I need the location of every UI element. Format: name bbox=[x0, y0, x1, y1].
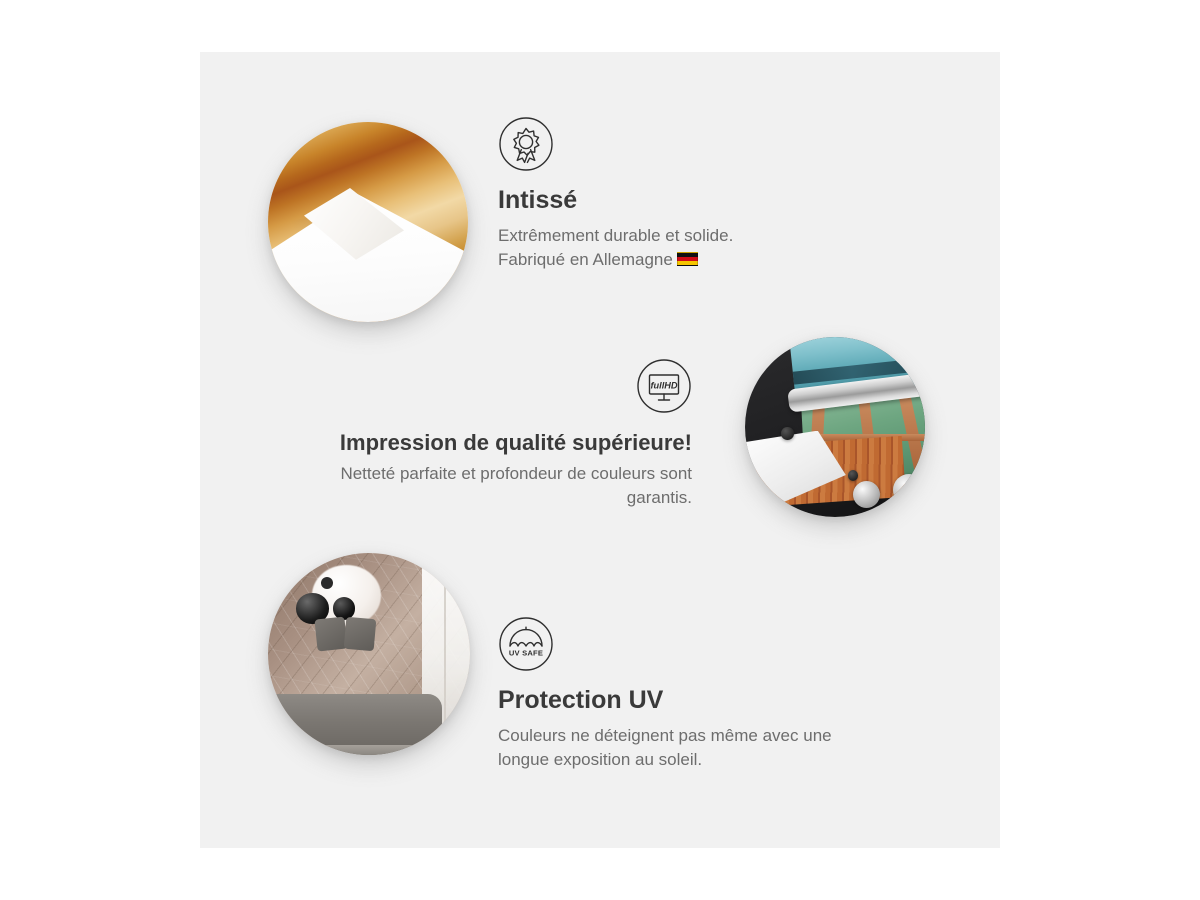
living-room-mural-photo bbox=[268, 553, 470, 755]
photo-inner bbox=[268, 553, 470, 755]
feature-title: Protection UV bbox=[498, 686, 878, 716]
feature-body-line2: garantis. bbox=[627, 488, 692, 507]
uv-umbrella-icon: UV SAFE bbox=[498, 616, 554, 672]
feature-panel: Intissé Extrêmement durable et solide. F… bbox=[200, 52, 1000, 848]
photo-inner bbox=[268, 122, 468, 322]
feature-block-uv-protection: UV SAFE Protection UV Couleurs ne déteig… bbox=[498, 616, 878, 772]
award-rosette-icon bbox=[498, 116, 554, 172]
icon-wrap: fullHD bbox=[280, 358, 692, 414]
feature-body-line1: Netteté parfaite et profondeur de couleu… bbox=[340, 464, 692, 483]
german-flag-icon bbox=[677, 252, 698, 266]
icon-wrap: UV SAFE bbox=[498, 616, 878, 672]
machine-bolt bbox=[781, 427, 794, 440]
feature-body-line2: Fabriqué en Allemagne bbox=[498, 250, 673, 269]
feature-title: Intissé bbox=[498, 186, 828, 216]
feature-title: Impression de qualité supérieure! bbox=[280, 430, 692, 456]
svg-text:fullHD: fullHD bbox=[650, 380, 677, 390]
printing-machine-photo bbox=[745, 337, 925, 517]
sofa-seat bbox=[271, 745, 417, 755]
sofa-pillow bbox=[343, 616, 376, 651]
feature-body-line1: Couleurs ne déteignent pas même avec une bbox=[498, 726, 832, 745]
roller-knob bbox=[893, 474, 925, 506]
feature-body-line2: longue exposition au soleil. bbox=[498, 750, 702, 769]
icon-wrap bbox=[498, 116, 828, 172]
svg-text:UV SAFE: UV SAFE bbox=[509, 648, 543, 657]
photo-inner bbox=[745, 337, 925, 517]
feature-block-print-quality: fullHD Impression de qualité supérieure!… bbox=[280, 358, 692, 510]
feature-body: Extrêmement durable et solide. Fabriqué … bbox=[498, 224, 828, 272]
wallpaper-peel-photo bbox=[268, 122, 468, 322]
gray-sofa bbox=[268, 694, 442, 755]
feature-body: Couleurs ne déteignent pas même avec une… bbox=[498, 724, 878, 772]
feature-block-nonwoven: Intissé Extrêmement durable et solide. F… bbox=[498, 116, 828, 272]
full-hd-monitor-icon: fullHD bbox=[636, 358, 692, 414]
mural-dark-dot bbox=[321, 577, 333, 589]
feature-body-line1: Extrêmement durable et solide. bbox=[498, 226, 733, 245]
feature-body: Netteté parfaite et profondeur de couleu… bbox=[280, 462, 692, 510]
roller-knob bbox=[853, 481, 880, 508]
